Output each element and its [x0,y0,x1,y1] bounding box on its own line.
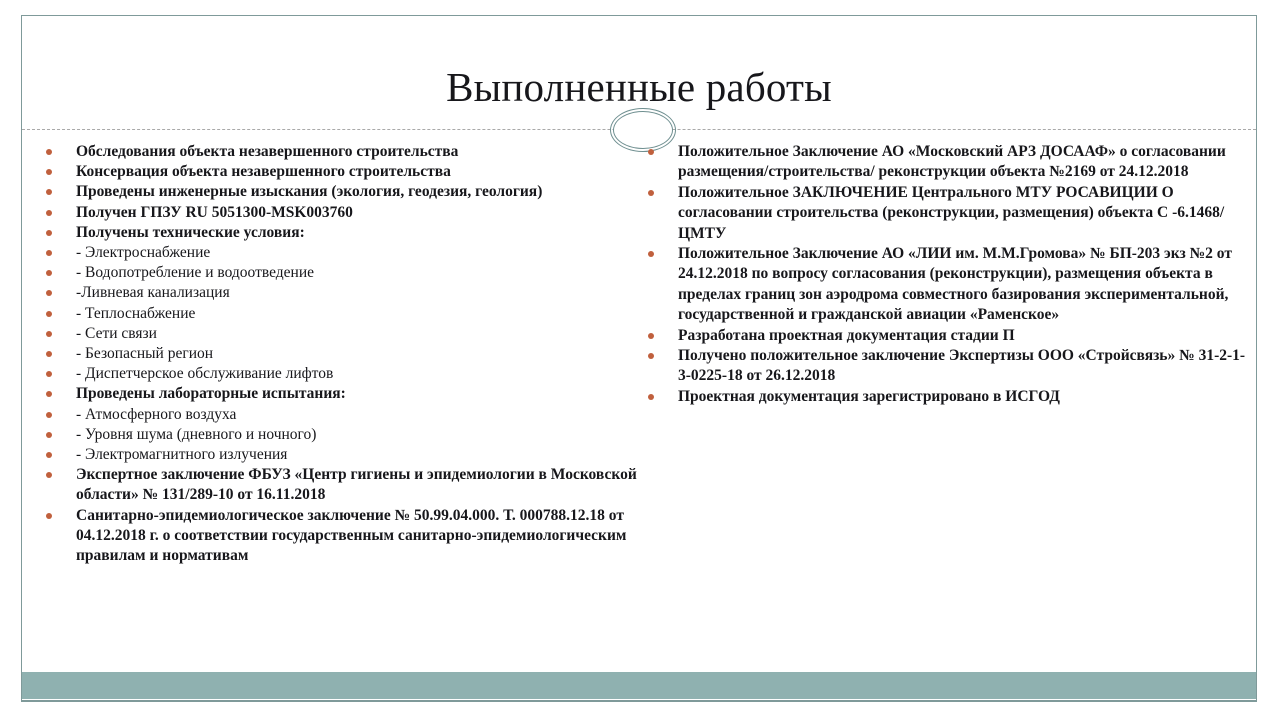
list-item: - Теплоснабжение [40,304,640,324]
bullet-dot-icon [46,270,52,276]
list-item: Санитарно-эпидемиологическое заключение … [40,506,640,567]
bullet-dot-icon [46,189,52,195]
list-item: Консервация объекта незавершенного строи… [40,162,640,182]
list-item-text: Получено положительное заключение Экспер… [678,347,1245,384]
bullet-dot-icon [648,394,654,400]
bullet-dot-icon [46,230,52,236]
list-item: Проектная документация зарегистрировано … [642,387,1252,407]
list-item: -Ливневая канализация [40,283,640,303]
list-item-text: - Атмосферного воздуха [76,406,236,423]
left-bullet-list: Обследования объекта незавершенного стро… [40,142,640,566]
footer-accent-bar [22,672,1256,699]
list-item: Получены технические условия: [40,223,640,243]
bullet-dot-icon [648,251,654,257]
list-item: - Сети связи [40,324,640,344]
bullet-dot-icon [46,412,52,418]
bullet-dot-icon [648,190,654,196]
list-item-text: - Сети связи [76,325,157,342]
list-item-text: - Диспетчерское обслуживание лифтов [76,365,333,382]
page-title: Выполненные работы [21,65,1257,110]
list-item-text: - Безопасный регион [76,345,213,362]
right-bullet-list: Положительное Заключение АО «Московский … [642,142,1252,407]
list-item: - Уровня шума (дневного и ночного) [40,425,640,445]
list-item: - Диспетчерское обслуживание лифтов [40,364,640,384]
list-item: Получено положительное заключение Экспер… [642,346,1252,387]
list-item: Экспертное заключение ФБУЗ «Центр гигиен… [40,465,640,505]
list-item: - Электромагнитного излучения [40,445,640,465]
list-item: - Атмосферного воздуха [40,405,640,425]
list-item-text: -Ливневая канализация [76,284,230,301]
list-item: - Электроснабжение [40,243,640,263]
bullet-dot-icon [46,391,52,397]
bullet-dot-icon [648,353,654,359]
bullet-dot-icon [648,333,654,339]
list-item-text: Положительное ЗАКЛЮЧЕНИЕ Центрального МТ… [678,184,1224,242]
list-item: Положительное Заключение АО «ЛИИ им. М.М… [642,244,1252,326]
footer-accent-rule [22,700,1256,702]
right-content-column: Положительное Заключение АО «Московский … [642,142,1252,407]
bullet-dot-icon [46,169,52,175]
bullet-dot-icon [46,452,52,458]
bullet-dot-icon [46,432,52,438]
bullet-dot-icon [46,250,52,256]
list-item: - Безопасный регион [40,344,640,364]
list-item-text: Положительное Заключение АО «ЛИИ им. М.М… [678,245,1232,323]
list-item-text: Проведены лабораторные испытания: [76,385,346,402]
list-item: Разработана проектная документация стади… [642,326,1252,346]
list-item-text: Санитарно-эпидемиологическое заключение … [76,507,626,564]
list-item-text: Обследования объекта незавершенного стро… [76,143,458,160]
list-item-text: Экспертное заключение ФБУЗ «Центр гигиен… [76,466,637,503]
list-item-text: Положительное Заключение АО «Московский … [678,143,1226,180]
bullet-dot-icon [46,331,52,337]
list-item: Получен ГПЗУ RU 5051300-MSK003760 [40,203,640,223]
list-item-text: - Электромагнитного излучения [76,446,287,463]
list-item-text: - Электроснабжение [76,244,210,261]
bullet-dot-icon [46,371,52,377]
list-item: - Водопотребление и водоотведение [40,263,640,283]
list-item-text: - Уровня шума (дневного и ночного) [76,426,316,443]
list-item: Обследования объекта незавершенного стро… [40,142,640,162]
slide-canvas: Выполненные работы Обследования объекта … [0,0,1280,720]
bullet-dot-icon [46,472,52,478]
bullet-dot-icon [46,513,52,519]
list-item: Положительное ЗАКЛЮЧЕНИЕ Центрального МТ… [642,183,1252,244]
list-item-text: Проектная документация зарегистрировано … [678,388,1060,405]
list-item-text: Проведены инженерные изыскания (экология… [76,183,542,200]
bullet-dot-icon [46,210,52,216]
list-item-text: Консервация объекта незавершенного строи… [76,163,451,180]
list-item-text: Получены технические условия: [76,224,305,241]
list-item-text: Получен ГПЗУ RU 5051300-MSK003760 [76,204,353,221]
bullet-dot-icon [46,351,52,357]
bullet-dot-icon [46,311,52,317]
bullet-dot-icon [46,149,52,155]
list-item-text: - Водопотребление и водоотведение [76,264,314,281]
list-item: Положительное Заключение АО «Московский … [642,142,1252,183]
bullet-dot-icon [648,149,654,155]
list-item-text: - Теплоснабжение [76,305,195,322]
left-content-column: Обследования объекта незавершенного стро… [40,142,640,566]
list-item-text: Разработана проектная документация стади… [678,327,1015,344]
bullet-dot-icon [46,290,52,296]
list-item: Проведены лабораторные испытания: [40,384,640,404]
list-item: Проведены инженерные изыскания (экология… [40,182,640,202]
